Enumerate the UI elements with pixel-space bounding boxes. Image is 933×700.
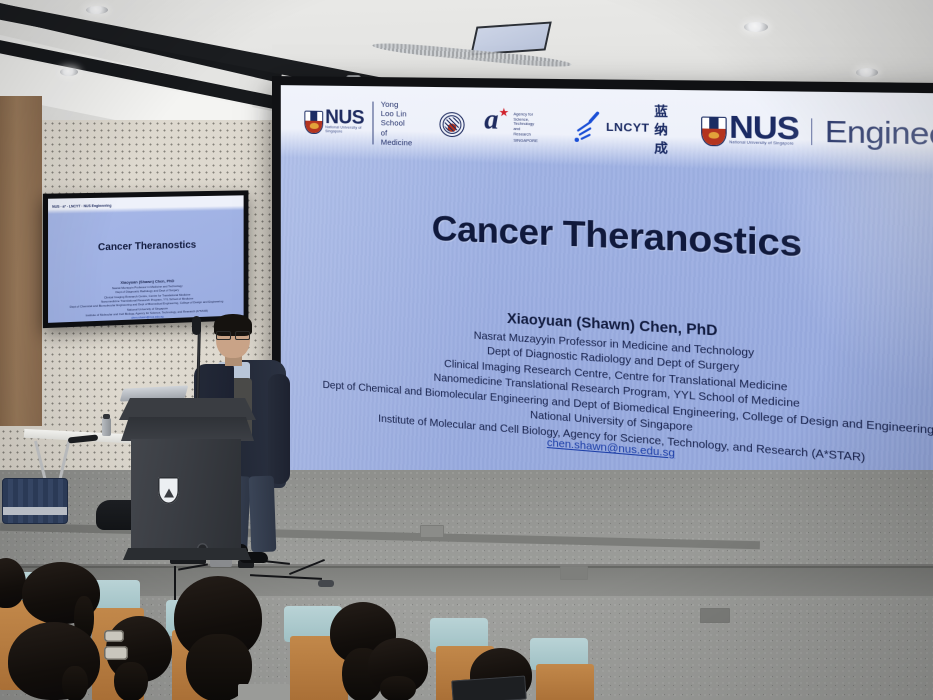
floor-service-plate	[420, 525, 444, 538]
presenter-leg	[249, 476, 277, 553]
podium-slope	[121, 417, 254, 441]
confidence-monitor: NUS · a* · LNCYT · NUS Engineering Cance…	[43, 190, 249, 328]
podium-body	[131, 439, 241, 551]
nus-crest-icon	[701, 116, 724, 144]
audience-ponytail	[380, 676, 416, 700]
microphone-head-icon	[192, 316, 201, 335]
engineering-division-label: Engineering	[825, 118, 933, 150]
audience-ponytail	[62, 666, 88, 700]
nus-engineering-sub: National University of Singapore	[729, 142, 799, 148]
ceiling-downlight	[856, 68, 878, 77]
lectern-podium	[125, 398, 250, 560]
lncyt-bird-icon	[573, 113, 602, 141]
presenter-glasses-icon	[216, 331, 250, 338]
slide-title: Cancer Theranostics	[281, 203, 933, 274]
astar-logo: a ★ Agency for Science, Technology and R…	[484, 107, 538, 144]
lncyt-logo: LNCYT 蓝纳成	[573, 100, 669, 157]
nus-engineering-logo: NUS National University of Singapore Eng…	[701, 114, 933, 152]
astar-star-icon: ★	[499, 107, 510, 119]
bottle-cap	[103, 414, 110, 419]
audience-laptop	[451, 675, 526, 700]
lncyt-chinese-wordmark: 蓝纳成	[654, 101, 669, 156]
astar-sub-4: SINGAPORE	[513, 139, 537, 145]
lncyt-wordmark: LNCYT	[606, 121, 650, 135]
auditorium-seat-back	[536, 664, 594, 700]
ceiling-downlight	[86, 6, 108, 14]
confidence-monitor-slide: NUS · a* · LNCYT · NUS Engineering Cance…	[48, 195, 244, 323]
navy-suitcase	[2, 478, 68, 524]
slide-logo-bar: NUS National University of Singapore Yon…	[281, 85, 933, 177]
lecture-hall-photo: NUS · a* · LNCYT · NUS Engineering Cance…	[0, 0, 933, 700]
astar-sub-3: and Research	[513, 127, 537, 137]
audience-ponytail	[114, 662, 148, 700]
confidence-monitor-logo-bar: NUS · a* · LNCYT · NUS Engineering	[48, 195, 244, 214]
confidence-monitor-title: Cancer Theranostics	[48, 239, 244, 255]
nus-engineering-wordmark: NUS	[729, 115, 799, 144]
nus-yong-loo-lin-logo: NUS National University of Singapore Yon…	[304, 99, 413, 148]
nus-sub-text: National University of Singapore	[325, 126, 364, 134]
logo-divider	[811, 118, 813, 145]
astar-sub-2: Science, Technology	[513, 117, 537, 127]
left-wood-wall-panel	[0, 96, 42, 426]
audience-seating	[0, 556, 933, 700]
astar-a-glyph: a	[484, 107, 497, 131]
podium-top-surface	[119, 398, 256, 420]
circular-seal-logo	[440, 112, 465, 137]
ceiling-downlight	[744, 22, 768, 32]
audience-hair-clip	[104, 646, 128, 660]
podium-crest-icon	[158, 477, 179, 504]
yll-line-1: Yong Loo Lin	[381, 100, 413, 119]
nus-crest-icon	[304, 111, 321, 133]
water-bottle	[102, 418, 111, 436]
folding-desk-tablet	[238, 684, 290, 700]
presenter-arm	[268, 374, 290, 484]
audience-hair-clip	[104, 630, 124, 642]
yll-line-2: School of Medicine	[381, 118, 413, 147]
ceiling-downlight	[60, 68, 78, 76]
